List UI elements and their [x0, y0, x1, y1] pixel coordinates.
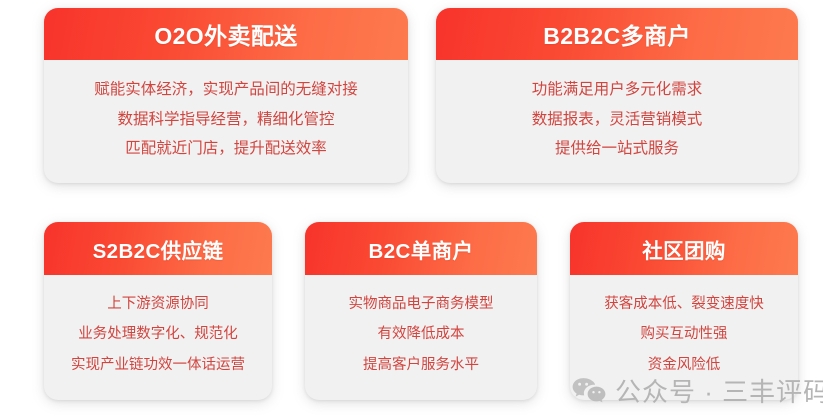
- card-b2b2c[interactable]: B2B2C多商户 功能满足用户多元化需求 数据报表，灵活营销模式 提供给一站式服…: [436, 8, 798, 183]
- card-b2c[interactable]: B2C单商户 实物商品电子商务模型 有效降低成本 提高客户服务水平: [305, 222, 537, 400]
- card-o2o-line-1: 赋能实体经济，实现产品间的无缝对接: [94, 80, 358, 99]
- card-b2c-title: B2C单商户: [305, 222, 537, 275]
- card-b2b2c-line-1: 功能满足用户多元化需求: [532, 80, 703, 99]
- card-tuangou-title: 社区团购: [570, 222, 798, 275]
- card-tuangou-body: 获客成本低、裂变速度快 购买互动性强 资金风险低: [570, 275, 798, 400]
- card-b2c-line-1: 实物商品电子商务模型: [349, 295, 494, 313]
- card-b2c-line-3: 提高客户服务水平: [363, 356, 479, 374]
- card-o2o-body: 赋能实体经济，实现产品间的无缝对接 数据科学指导经营，精细化管控 匹配就近门店，…: [44, 60, 408, 183]
- card-s2b2c-line-1: 上下游资源协同: [107, 295, 209, 313]
- card-b2b2c-line-2: 数据报表，灵活营销模式: [532, 110, 703, 129]
- card-s2b2c-body: 上下游资源协同 业务处理数字化、规范化 实现产业链功效一体话运营: [44, 275, 272, 400]
- card-o2o-title: O2O外卖配送: [44, 8, 408, 60]
- card-b2b2c-body: 功能满足用户多元化需求 数据报表，灵活营销模式 提供给一站式服务: [436, 60, 798, 183]
- card-board: O2O外卖配送 赋能实体经济，实现产品间的无缝对接 数据科学指导经营，精细化管控…: [0, 0, 823, 418]
- card-b2b2c-line-3: 提供给一站式服务: [555, 139, 679, 158]
- card-tuangou-line-1: 获客成本低、裂变速度快: [604, 295, 764, 313]
- card-s2b2c-line-2: 业务处理数字化、规范化: [78, 325, 238, 343]
- card-b2b2c-title: B2B2C多商户: [436, 8, 798, 60]
- card-b2c-line-2: 有效降低成本: [378, 325, 465, 343]
- card-o2o-line-3: 匹配就近门店，提升配送效率: [125, 139, 327, 158]
- card-tuangou[interactable]: 社区团购 获客成本低、裂变速度快 购买互动性强 资金风险低: [570, 222, 798, 400]
- card-s2b2c-line-3: 实现产业链功效一体话运营: [71, 356, 245, 374]
- card-tuangou-line-2: 购买互动性强: [641, 325, 728, 343]
- card-tuangou-line-3: 资金风险低: [648, 356, 721, 374]
- card-s2b2c-title: S2B2C供应链: [44, 222, 272, 275]
- card-s2b2c[interactable]: S2B2C供应链 上下游资源协同 业务处理数字化、规范化 实现产业链功效一体话运…: [44, 222, 272, 400]
- card-o2o[interactable]: O2O外卖配送 赋能实体经济，实现产品间的无缝对接 数据科学指导经营，精细化管控…: [44, 8, 408, 183]
- card-o2o-line-2: 数据科学指导经营，精细化管控: [117, 110, 334, 129]
- card-b2c-body: 实物商品电子商务模型 有效降低成本 提高客户服务水平: [305, 275, 537, 400]
